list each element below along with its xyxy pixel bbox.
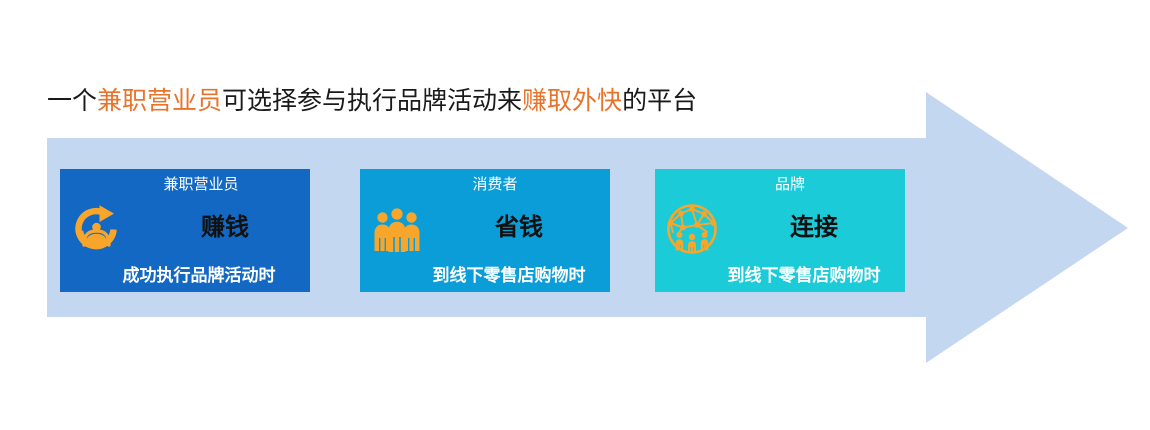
card-title: 消费者 bbox=[360, 175, 620, 195]
page-title: 一个兼职营业员可选择参与执行品牌活动来赚取外快的平台 bbox=[47, 86, 697, 118]
headline-seg-3: 可选择参与执行品牌活动来 bbox=[222, 88, 522, 115]
card-main-label: 省钱 bbox=[360, 213, 644, 243]
card-consumer[interactable]: 消费者 省钱 到线下零售店购物时 bbox=[360, 169, 610, 292]
card-main-label: 赚钱 bbox=[60, 213, 350, 243]
card-footer-label: 成功执行品牌活动时 bbox=[60, 264, 324, 287]
card-footer-label: 到线下零售店购物时 bbox=[360, 264, 634, 287]
headline-seg-2-highlight: 兼职营业员 bbox=[97, 88, 222, 115]
card-footer-label: 到线下零售店购物时 bbox=[655, 264, 929, 287]
diagram-canvas: 一个兼职营业员可选择参与执行品牌活动来赚取外快的平台 兼职营业员 赚钱 成功执行… bbox=[0, 0, 1150, 430]
headline-seg-5: 的平台 bbox=[622, 88, 697, 115]
card-main-label: 连接 bbox=[655, 213, 939, 243]
card-title: 兼职营业员 bbox=[60, 175, 326, 195]
card-brand[interactable]: 品牌 bbox=[655, 169, 905, 292]
card-title: 品牌 bbox=[655, 175, 915, 195]
headline-seg-1: 一个 bbox=[47, 88, 97, 115]
headline-seg-4-highlight: 赚取外快 bbox=[522, 88, 622, 115]
card-part-time-clerk[interactable]: 兼职营业员 赚钱 成功执行品牌活动时 bbox=[60, 169, 310, 292]
